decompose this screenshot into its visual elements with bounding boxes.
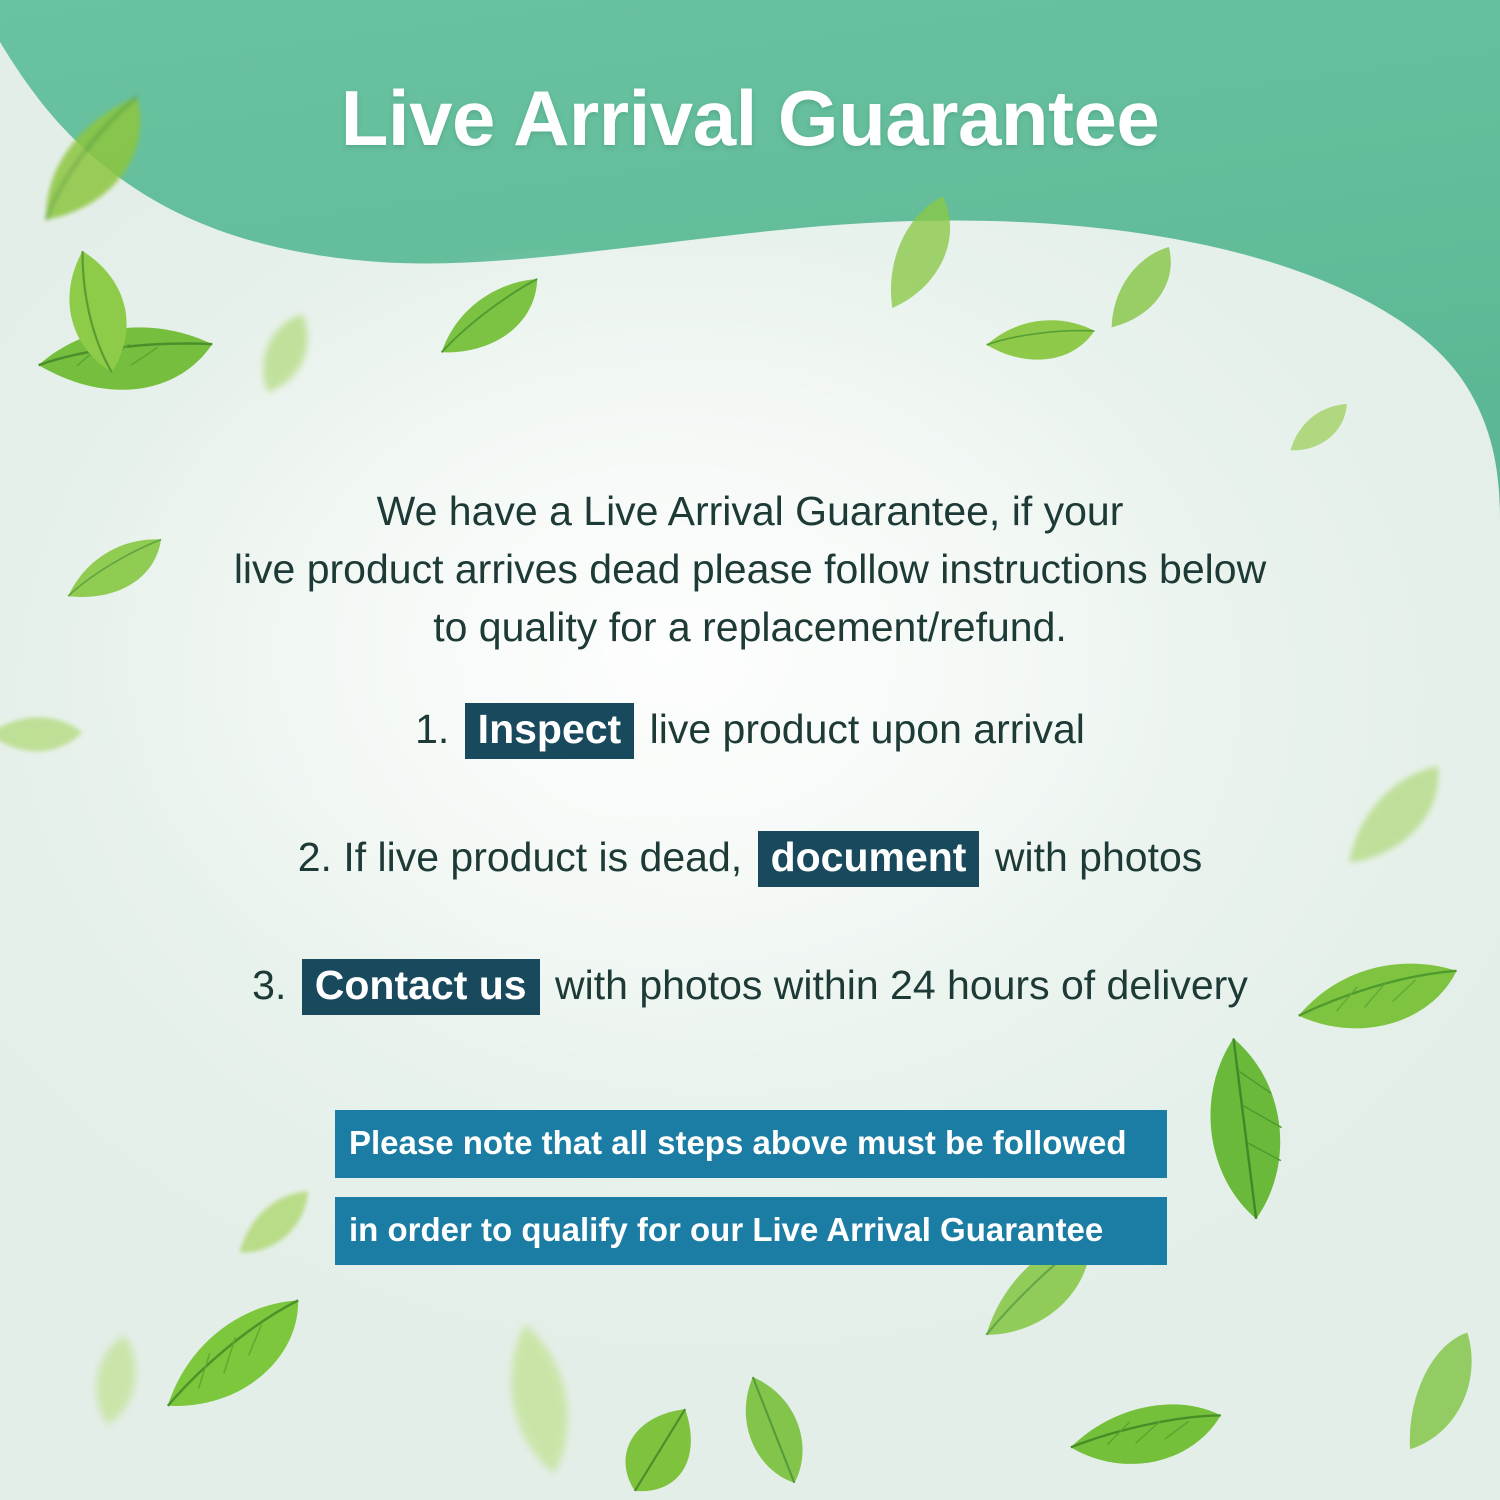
step-text-2-before: If live product is dead, [343, 834, 742, 880]
intro-paragraph: We have a Live Arrival Guarantee, if you… [150, 482, 1350, 657]
intro-line-1: We have a Live Arrival Guarantee, if you… [150, 482, 1350, 540]
step-number-3: 3. [252, 962, 286, 1008]
step-text-1: live product upon arrival [650, 706, 1085, 752]
notice-line-1: Please note that all steps above must be… [335, 1110, 1167, 1178]
page-title: Live Arrival Guarantee [0, 78, 1500, 160]
steps-list: 1. Inspect live product upon arrival 2. … [0, 703, 1500, 1015]
step-number-2: 2. [298, 834, 332, 880]
step-number-1: 1. [415, 706, 449, 752]
step-text-3: with photos within 24 hours of delivery [555, 962, 1248, 1008]
intro-line-2: live product arrives dead please follow … [150, 540, 1350, 598]
step-text-2-after: with photos [995, 834, 1202, 880]
card-content: Live Arrival Guarantee We have a Live Ar… [0, 0, 1500, 1500]
notice-line-2: in order to qualify for our Live Arrival… [335, 1197, 1167, 1265]
step-highlight-inspect: Inspect [465, 703, 635, 759]
step-item-2: 2. If live product is dead, document wit… [0, 831, 1500, 887]
step-highlight-document: document [758, 831, 980, 887]
step-highlight-contact-us: Contact us [302, 959, 540, 1015]
step-item-1: 1. Inspect live product upon arrival [0, 703, 1500, 759]
step-item-3: 3. Contact us with photos within 24 hour… [0, 959, 1500, 1015]
intro-line-3: to quality for a replacement/refund. [150, 598, 1350, 656]
notice-banner-group: Please note that all steps above must be… [335, 1110, 1167, 1265]
live-arrival-guarantee-card: Live Arrival Guarantee We have a Live Ar… [0, 0, 1500, 1500]
